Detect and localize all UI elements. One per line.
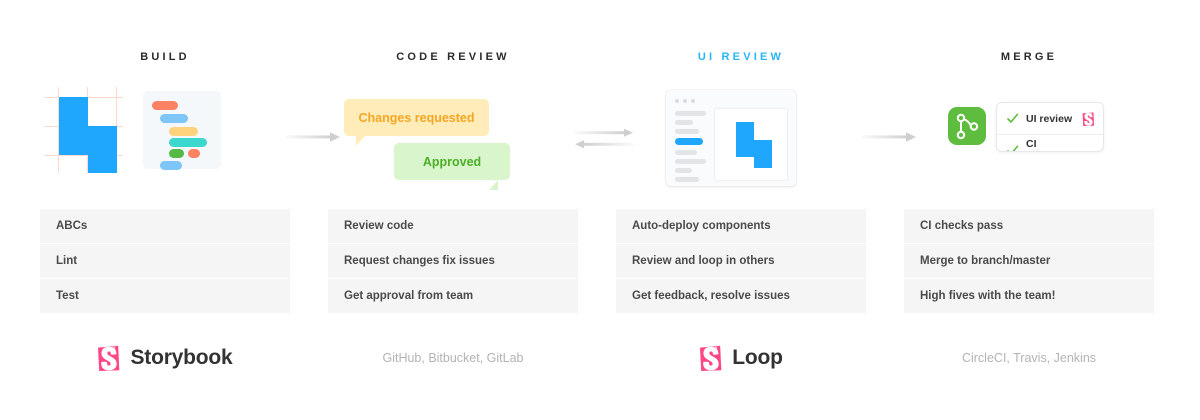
list-item: Get feedback, resolve issues: [616, 279, 866, 313]
column-title-build: BUILD: [40, 51, 290, 63]
list-item: Merge to branch/master: [904, 244, 1154, 278]
window-controls-icon: [691, 99, 695, 103]
status-check-label: UI review: [1026, 113, 1072, 125]
storybook-brand-name: Storybook: [130, 346, 232, 370]
sidebar-line: [675, 168, 692, 173]
snippet-line: [160, 161, 182, 170]
code-review-illustration: Changes requested Approved: [328, 85, 578, 195]
storybook-brand: Storybook: [97, 345, 232, 371]
column-title-ui-review: UI REVIEW: [616, 51, 866, 63]
storybook-mark-icon: [736, 122, 773, 168]
ui-review-footer: Loop: [616, 340, 866, 376]
check-icon: [1006, 112, 1019, 125]
sidebar-line-selected[interactable]: [675, 138, 703, 145]
ui-review-task-list: Auto-deploy components Review and loop i…: [616, 209, 866, 314]
bubble-label: Changes requested: [358, 111, 474, 125]
merge-task-list: CI checks pass Merge to branch/master Hi…: [904, 209, 1154, 314]
arrow-code-review-ui-review: [572, 128, 636, 154]
bubble-label: Approved: [423, 155, 481, 169]
arrow-build-to-code-review: [286, 130, 342, 144]
column-title-merge: MERGE: [904, 51, 1154, 63]
browser-mock: [666, 90, 796, 186]
arrow-ui-review-to-merge: [862, 130, 918, 144]
storybook-mark-icon: [59, 97, 119, 173]
window-controls-icon: [683, 99, 687, 103]
sidebar-line: [675, 129, 699, 134]
build-illustration: [40, 85, 290, 195]
merge-tools-label: CircleCI, Travis, Jenkins: [962, 351, 1096, 365]
sidebar-line: [675, 150, 697, 155]
check-icon: [1006, 144, 1019, 153]
merge-illustration: UI review CI production: [904, 85, 1154, 195]
list-item: Request changes fix issues: [328, 244, 578, 278]
column-title-code-review: CODE REVIEW: [328, 51, 578, 63]
loop-brand: Loop: [699, 345, 783, 371]
build-footer: Storybook: [40, 340, 290, 376]
column-build: BUILD: [40, 0, 290, 420]
sidebar-line: [675, 111, 706, 116]
code-review-tools-label: GitHub, Bitbucket, GitLab: [382, 351, 523, 365]
list-item: Get approval from team: [328, 279, 578, 313]
preview-canvas: [714, 108, 788, 181]
snippet-line: [169, 138, 207, 147]
merge-footer: CircleCI, Travis, Jenkins: [904, 340, 1154, 376]
storybook-badge-icon: [1082, 112, 1095, 126]
list-item: ABCs: [40, 209, 290, 243]
snippet-line: [169, 127, 198, 136]
loop-brand-name: Loop: [732, 346, 783, 370]
window-controls-icon: [675, 99, 679, 103]
code-review-footer: GitHub, Bitbucket, GitLab: [328, 340, 578, 376]
bubble-approved: Approved: [394, 143, 510, 180]
workflow-diagram: BUILD: [0, 0, 1200, 420]
list-item: High fives with the team!: [904, 279, 1154, 313]
list-item: Review and loop in others: [616, 244, 866, 278]
list-item: Review code: [328, 209, 578, 243]
bubble-changes-requested: Changes requested: [344, 99, 489, 136]
list-item: Lint: [40, 244, 290, 278]
list-item: Test: [40, 279, 290, 313]
column-merge: MERGE UI review: [904, 0, 1154, 420]
status-check-row: CI production: [997, 134, 1103, 152]
column-ui-review: UI REVIEW: [616, 0, 866, 420]
sidebar-line: [675, 159, 706, 164]
column-code-review: CODE REVIEW Changes requested Approved R…: [328, 0, 578, 420]
status-check-label: CI production: [1026, 138, 1094, 152]
snippet-line: [160, 114, 188, 123]
status-check-row: UI review: [997, 103, 1103, 134]
snippet-line: [152, 101, 178, 110]
ui-review-illustration: [616, 85, 866, 195]
snippet-line: [169, 149, 184, 158]
build-task-list: ABCs Lint Test: [40, 209, 290, 314]
status-checks-card: UI review CI production: [996, 102, 1104, 152]
code-review-task-list: Review code Request changes fix issues G…: [328, 209, 578, 314]
list-item: Auto-deploy components: [616, 209, 866, 243]
storybook-logo-icon: [97, 345, 121, 371]
git-merge-icon: [948, 107, 986, 145]
code-snippet-card: [143, 91, 221, 169]
sidebar-line: [675, 177, 699, 182]
sidebar-line: [675, 120, 693, 125]
snippet-line: [188, 149, 200, 158]
storybook-logo-icon: [699, 345, 723, 371]
list-item: CI checks pass: [904, 209, 1154, 243]
